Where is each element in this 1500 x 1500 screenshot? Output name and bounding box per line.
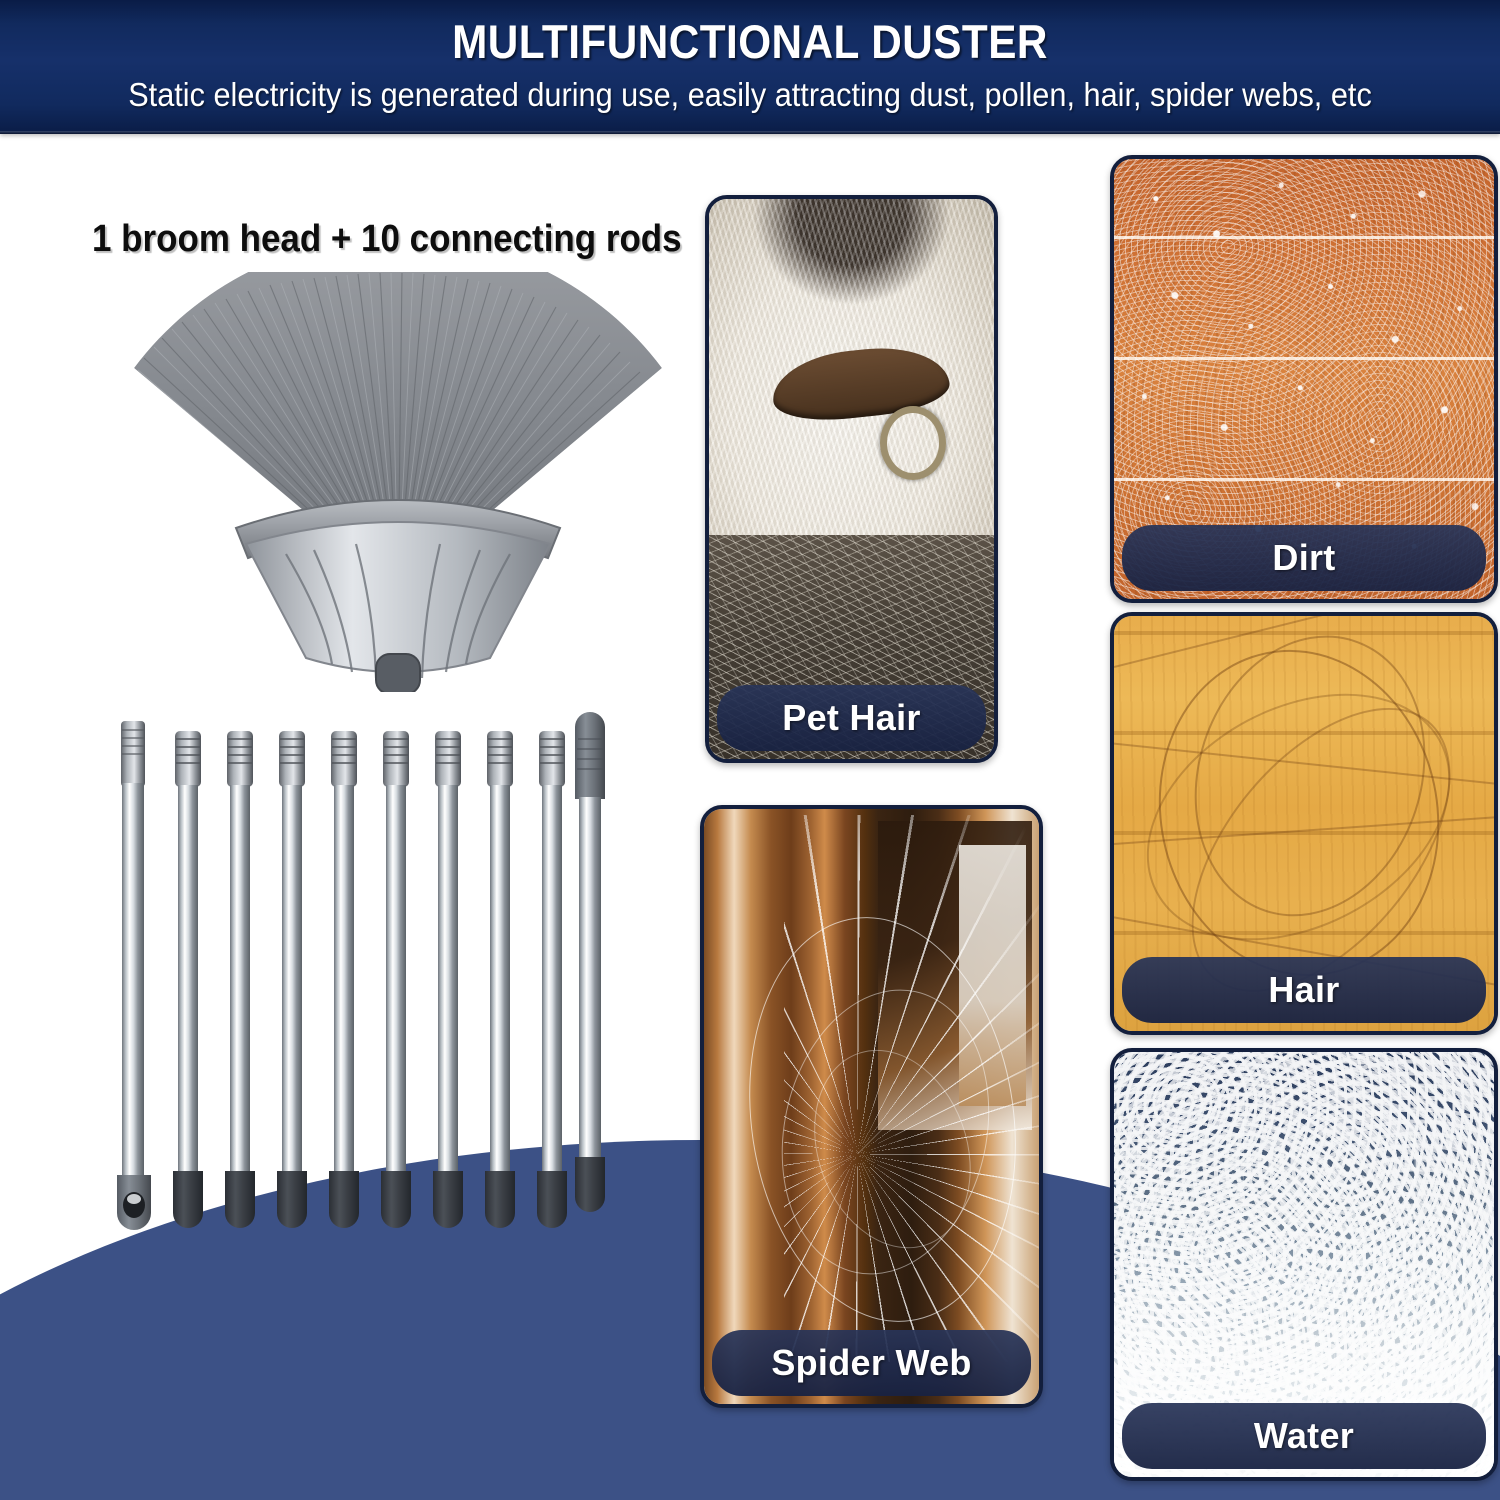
- broom-head-image: [118, 272, 678, 692]
- card-label-dirt: Dirt: [1122, 525, 1486, 591]
- card-label-spider-web: Spider Web: [712, 1330, 1031, 1396]
- feature-card-hair[interactable]: Hair: [1110, 612, 1498, 1035]
- card-label-water: Water: [1122, 1403, 1486, 1469]
- pet-hair-photo: [709, 199, 994, 759]
- header-banner: MULTIFUNCTIONAL DUSTER Static electricit…: [0, 0, 1500, 134]
- feature-card-pet-hair[interactable]: Pet Hair: [705, 195, 998, 763]
- feature-card-dirt[interactable]: Dirt: [1110, 155, 1498, 603]
- banner-subtitle: Static electricity is generated during u…: [53, 76, 1448, 114]
- feature-card-spider-web[interactable]: Spider Web: [700, 805, 1043, 1408]
- card-label-hair: Hair: [1122, 957, 1486, 1023]
- spider-web-photo: [704, 809, 1039, 1404]
- page-title: MULTIFUNCTIONAL DUSTER: [75, 14, 1425, 69]
- infographic-canvas: MULTIFUNCTIONAL DUSTER Static electricit…: [0, 0, 1500, 1500]
- card-label-pet-hair: Pet Hair: [717, 685, 986, 751]
- connecting-rods-image: [105, 705, 625, 1265]
- feature-card-water[interactable]: Water: [1110, 1048, 1498, 1481]
- package-contents-caption: 1 broom head + 10 connecting rods: [92, 218, 616, 261]
